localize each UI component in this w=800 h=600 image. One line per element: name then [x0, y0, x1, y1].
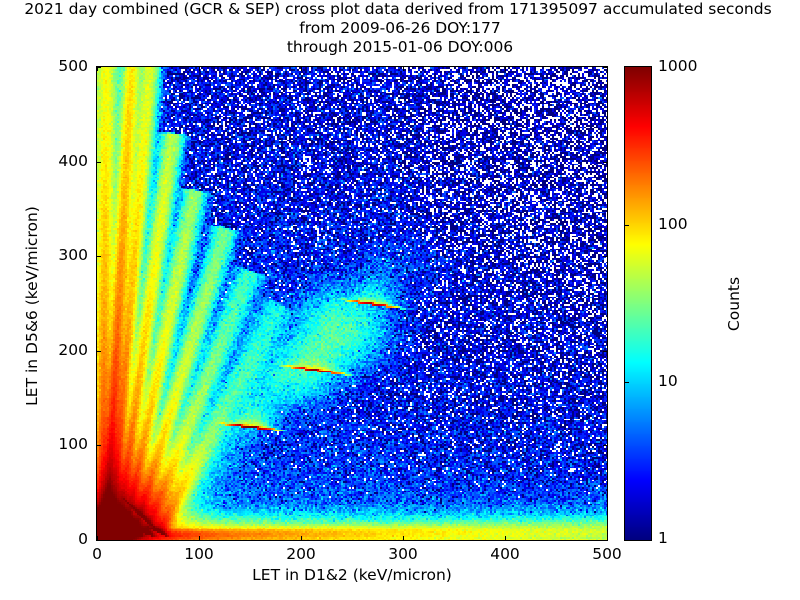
colorbar-tick-label: 10	[658, 372, 678, 390]
y-tick-mark	[97, 445, 101, 446]
colorbar-label: Counts	[725, 184, 743, 424]
y-tick-mark	[603, 445, 607, 446]
x-tick-label: 200	[271, 545, 331, 563]
x-tick-mark	[301, 536, 302, 540]
x-tick-mark	[505, 67, 506, 71]
colorbar-tick-mark	[625, 225, 629, 226]
title-line-through: through 2015-01-06 DOY:006	[0, 38, 800, 57]
figure-canvas: 2021 day combined (GCR & SEP) cross plot…	[0, 0, 800, 600]
y-tick-mark	[97, 540, 101, 541]
colorbar-gradient	[625, 67, 651, 540]
x-tick-mark	[607, 67, 608, 71]
colorbar-tick-label: 1	[658, 529, 668, 547]
y-tick-mark	[603, 162, 607, 163]
y-tick-mark	[603, 351, 607, 352]
y-tick-mark	[97, 256, 101, 257]
x-tick-mark	[607, 536, 608, 540]
title-line-main: 2021 day combined (GCR & SEP) cross plot…	[0, 0, 800, 19]
colorbar-tick-label: 100	[658, 215, 688, 233]
y-axis-label: LET in D5&6 (keV/micron)	[23, 136, 41, 476]
figure-title: 2021 day combined (GCR & SEP) cross plot…	[0, 0, 800, 57]
colorbar-tick-label: 1000	[658, 57, 697, 75]
x-tick-mark	[403, 536, 404, 540]
y-tick-mark	[97, 67, 101, 68]
x-tick-label: 300	[373, 545, 433, 563]
x-tick-label: 500	[577, 545, 637, 563]
x-tick-label: 100	[169, 545, 229, 563]
y-tick-label: 0	[28, 530, 88, 548]
x-tick-mark	[403, 67, 404, 71]
colorbar-tick-mark	[625, 382, 629, 383]
y-tick-mark	[97, 162, 101, 163]
plot-area[interactable]	[96, 66, 608, 541]
x-axis-label: LET in D1&2 (keV/micron)	[96, 566, 608, 584]
y-tick-mark	[603, 256, 607, 257]
y-tick-mark	[603, 540, 607, 541]
x-tick-mark	[199, 536, 200, 540]
y-tick-mark	[603, 67, 607, 68]
colorbar[interactable]	[624, 66, 652, 541]
y-tick-mark	[97, 351, 101, 352]
x-tick-label: 400	[475, 545, 535, 563]
density-heatmap	[97, 67, 607, 540]
x-tick-mark	[199, 67, 200, 71]
x-tick-mark	[301, 67, 302, 71]
x-tick-mark	[505, 536, 506, 540]
title-line-from: from 2009-06-26 DOY:177	[0, 19, 800, 38]
y-tick-label: 500	[28, 57, 88, 75]
